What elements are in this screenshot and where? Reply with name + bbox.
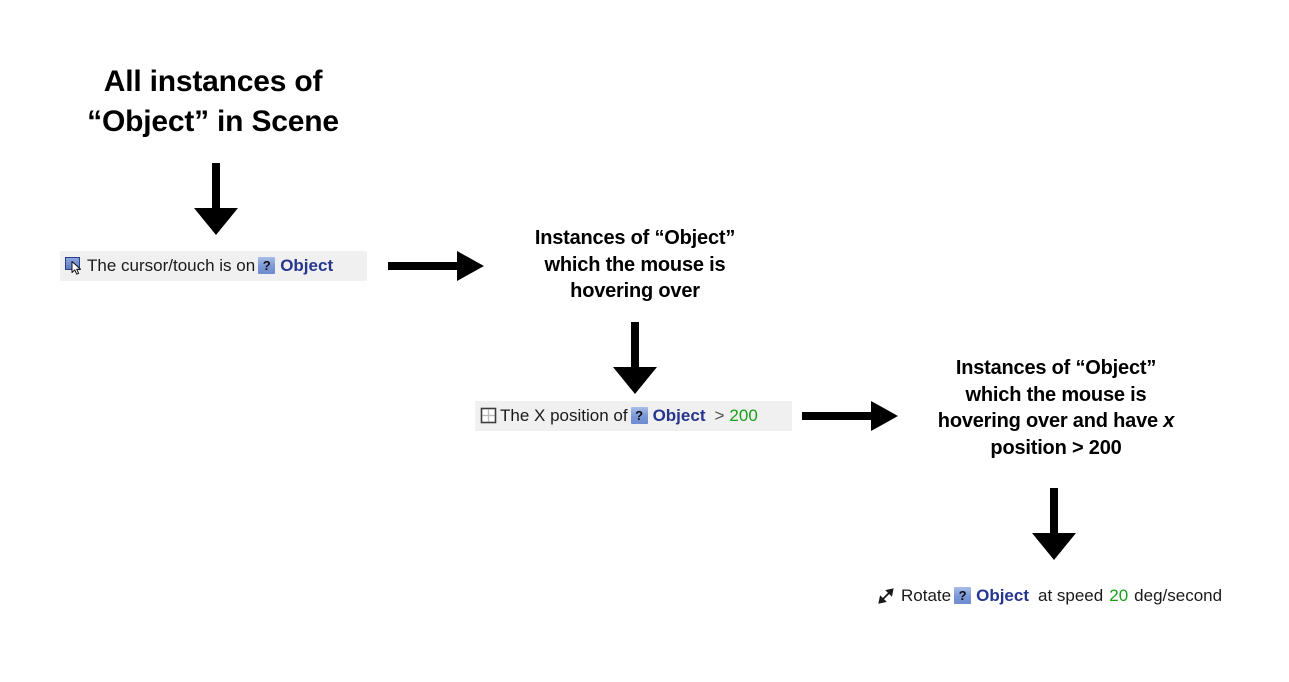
object-name-label: Object	[653, 406, 706, 426]
object-reference-badge[interactable]: ? Object	[954, 586, 1029, 606]
cursor-object-icon	[65, 257, 84, 274]
condition-row-x-position[interactable]: The X position of ? Object > 200	[475, 401, 792, 431]
arrow-xposition-row-to-hovering-x-annotation	[802, 401, 898, 431]
title-line-2: “Object” in Scene	[38, 102, 388, 142]
row-label-unit: deg/second	[1134, 586, 1222, 606]
question-mark-icon: ?	[258, 257, 275, 274]
annotation-line-3: hovering over and have x	[925, 408, 1187, 435]
annotation-line-1: Instances of “Object”	[508, 225, 762, 252]
row-label-middle: at speed	[1038, 586, 1103, 606]
annotation-line-4: position > 200	[925, 435, 1187, 462]
position-grid-icon	[480, 407, 497, 424]
annotation-line-2: which the mouse is	[925, 382, 1187, 409]
title-line-1: All instances of	[38, 62, 388, 102]
arrow-title-to-cursor-row	[194, 163, 238, 235]
comparison-operator: >	[714, 406, 724, 426]
rotate-diagonal-arrow-icon	[877, 587, 895, 605]
arrow-hovering-annotation-to-xposition-row	[613, 322, 657, 394]
annotation-line-2: which the mouse is	[508, 252, 762, 279]
action-row-rotate-object[interactable]: Rotate ? Object at speed 20 deg/second	[872, 581, 1242, 611]
annotation-line-1: Instances of “Object”	[925, 355, 1187, 382]
title-all-instances-of-object: All instances of “Object” in Scene	[38, 62, 388, 142]
arrow-hovering-x-annotation-to-rotate-row	[1032, 488, 1076, 560]
question-mark-icon: ?	[954, 587, 971, 604]
row-label-text: Rotate	[901, 586, 951, 606]
annotation-hovering-over-and-x-position: Instances of “Object” which the mouse is…	[925, 355, 1187, 461]
rotate-speed-value[interactable]: 20	[1109, 586, 1128, 606]
arrow-cursor-row-to-hovering-annotation	[388, 251, 484, 281]
row-label-text: The cursor/touch is on	[87, 256, 255, 276]
object-reference-badge[interactable]: ? Object	[631, 406, 706, 426]
annotation-hovering-over: Instances of “Object” which the mouse is…	[508, 225, 762, 305]
annotation-line-3: hovering over	[508, 278, 762, 305]
object-name-label: Object	[280, 256, 333, 276]
object-name-label: Object	[976, 586, 1029, 606]
question-mark-icon: ?	[631, 407, 648, 424]
annotation-italic-x: x	[1163, 410, 1174, 432]
condition-row-cursor-on-object[interactable]: The cursor/touch is on ? Object	[60, 251, 367, 281]
comparison-value[interactable]: 200	[729, 406, 757, 426]
object-reference-badge[interactable]: ? Object	[258, 256, 333, 276]
annotation-line-3-text: hovering over and have	[938, 410, 1163, 432]
row-label-text: The X position of	[500, 406, 628, 426]
